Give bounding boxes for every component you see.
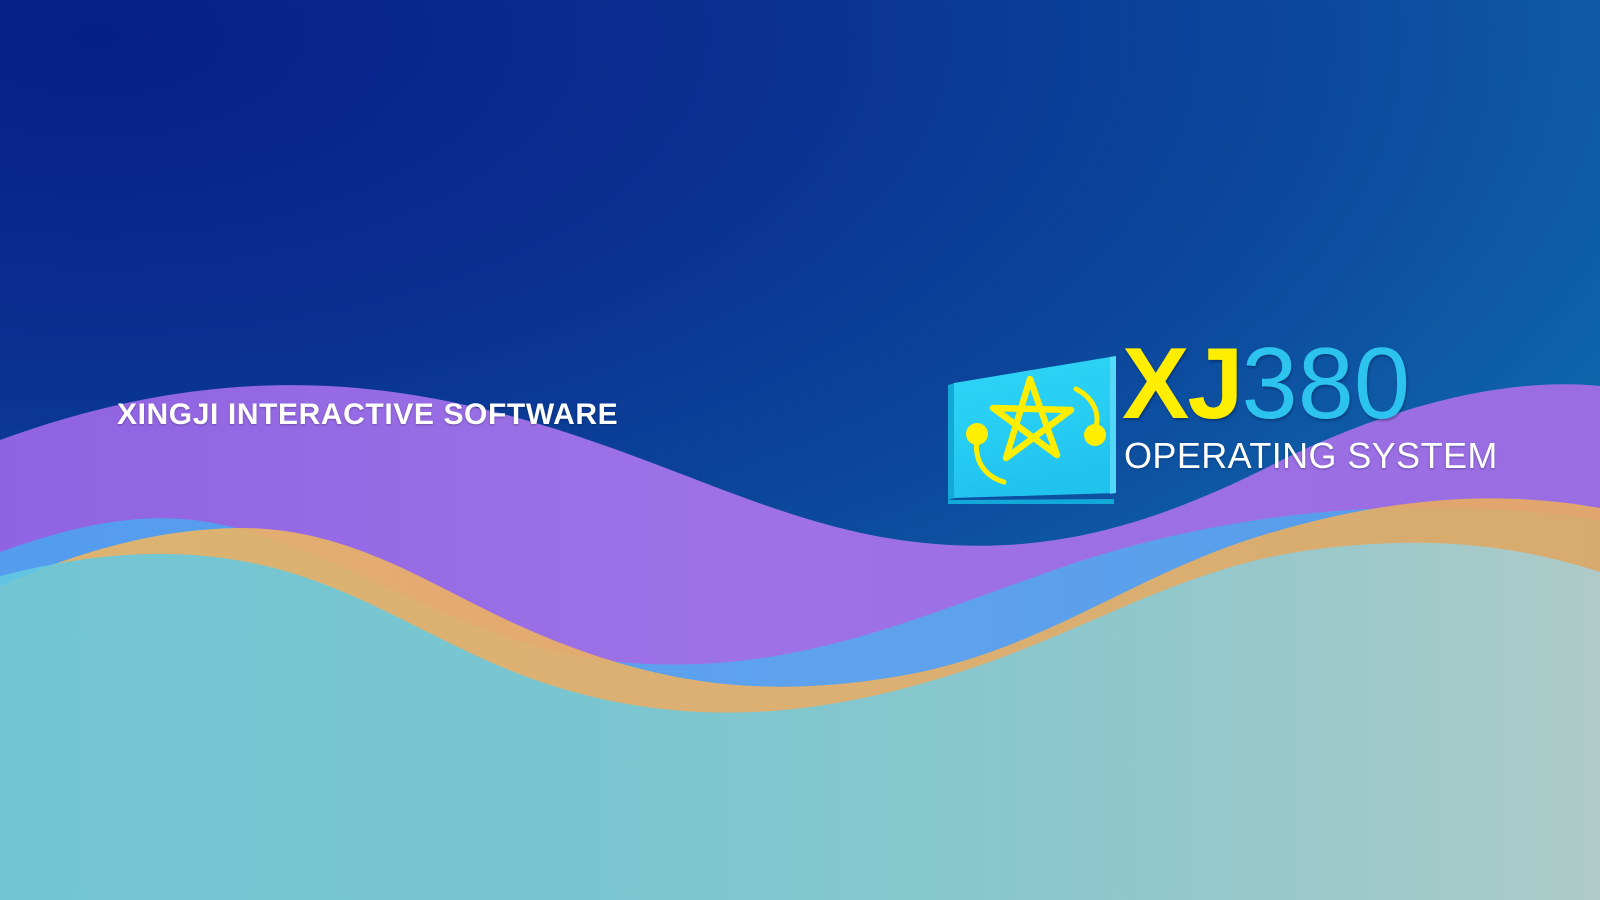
logo-badge [944, 352, 1124, 504]
product-tagline: OPERATING SYSTEM [1124, 438, 1498, 474]
badge-right-highlight [1110, 356, 1116, 494]
orbit-dot-left-icon [966, 423, 988, 445]
product-logo-lockup: XJ380 OPERATING SYSTEM [944, 338, 1464, 498]
badge-bottom-edge [948, 499, 1114, 504]
badge-left-edge [948, 383, 955, 500]
wordmark-xj: XJ [1122, 328, 1242, 440]
product-wordmark: XJ380 OPERATING SYSTEM [1122, 338, 1462, 488]
orbit-dot-right-icon [1084, 424, 1106, 446]
wordmark-380: 380 [1242, 328, 1411, 440]
wordmark-line-main: XJ380 [1122, 334, 1410, 435]
splash-screen: XINGJI INTERACTIVE SOFTWARE [0, 0, 1600, 900]
company-name-text: XINGJI INTERACTIVE SOFTWARE [117, 398, 618, 432]
